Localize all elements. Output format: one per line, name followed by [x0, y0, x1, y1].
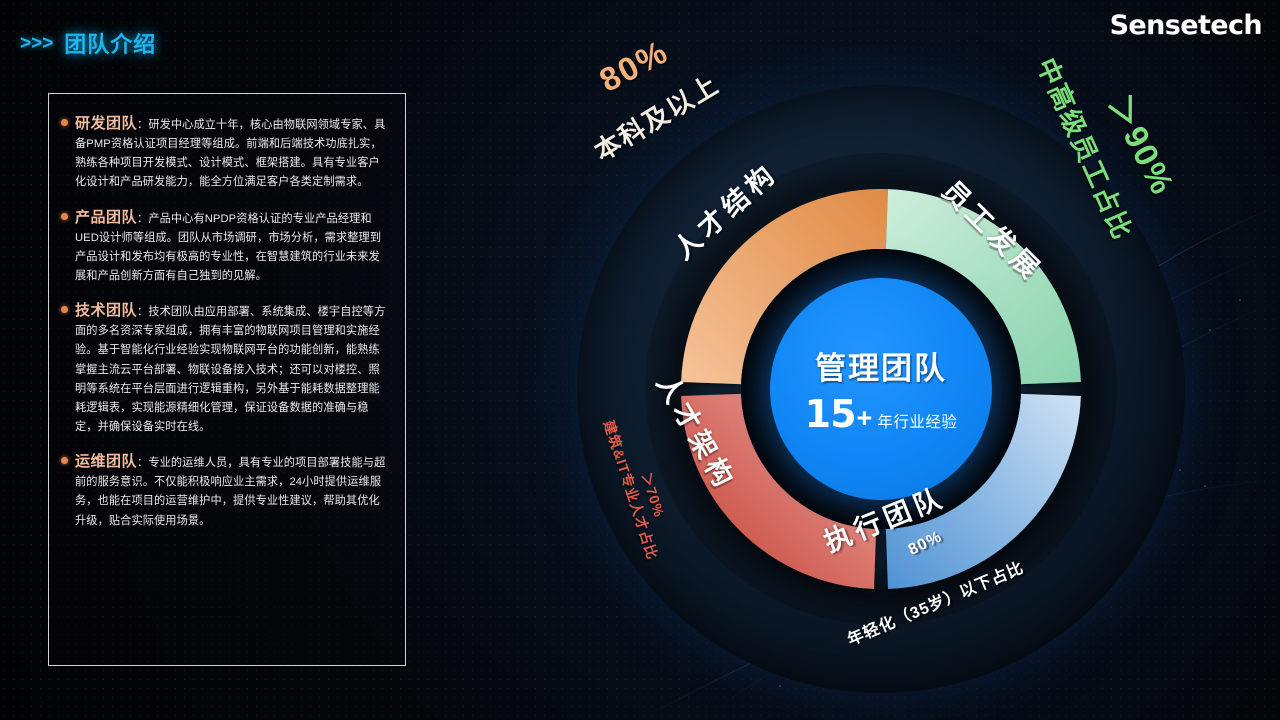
- list-item-colon: ：: [137, 119, 148, 131]
- chevron-right-icon: >>>: [20, 34, 53, 53]
- center-number: 15: [805, 392, 856, 436]
- page-title-group: >>> 团队介绍: [20, 27, 156, 59]
- list-item-colon: ：: [137, 213, 148, 225]
- bullet-dot-icon: [61, 457, 68, 464]
- bullet-dot-icon: [61, 306, 68, 313]
- list-item-heading: 产品团队: [75, 209, 137, 226]
- list-item-heading: 研发团队: [75, 115, 137, 132]
- list-item: 产品团队：产品中心有NPDP资格认证的专业产品经理和UED设计师等组成。团队从市…: [59, 206, 391, 286]
- page-title: 团队介绍: [64, 27, 156, 59]
- team-description-panel: 研发团队：研发中心成立十年，核心由物联网领域专家、具备PMP资格认证项目经理等组…: [48, 93, 406, 666]
- list-item-colon: ：: [137, 306, 148, 318]
- center-unit: 年行业经验: [877, 410, 957, 432]
- list-item: 研发团队：研发中心成立十年，核心由物联网领域专家、具备PMP资格认证项目经理等组…: [59, 112, 391, 192]
- list-item-body: 技术团队由应用部署、系统集成、楼宇自控等方面的多名资深专家组成，拥有丰富的物联网…: [75, 306, 385, 433]
- center-title: 管理团队: [815, 343, 947, 388]
- list-item: 技术团队：技术团队由应用部署、系统集成、楼宇自控等方面的多名资深专家组成，拥有丰…: [59, 299, 391, 436]
- list-item-heading: 运维团队: [75, 453, 137, 470]
- list-item-colon: ：: [137, 457, 148, 469]
- list-item-heading: 技术团队: [75, 302, 137, 319]
- bullet-dot-icon: [61, 119, 68, 126]
- list-item: 运维团队：专业的运维人员，具有专业的项目部署技能与超前的服务意识。不仅能积极响应…: [59, 450, 391, 530]
- donut-center-disc: 管理团队 15 + 年行业经验: [770, 278, 992, 500]
- chevron-glyphs: >>>: [20, 34, 53, 53]
- bullet-dot-icon: [61, 213, 68, 220]
- center-subtitle: 15 + 年行业经验: [805, 392, 958, 436]
- team-donut-chart: 管理团队 15 + 年行业经验 人才结构 员工发展 执行团队 人才架构 80% …: [530, 30, 1280, 720]
- center-plus-sign: +: [857, 403, 873, 434]
